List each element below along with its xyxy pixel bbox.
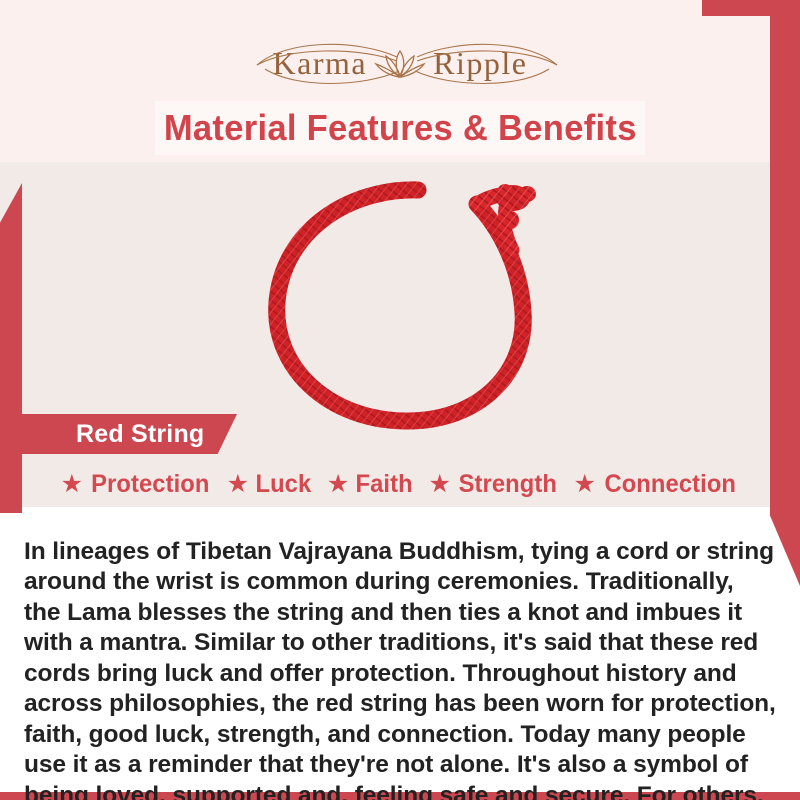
benefit-item: ★ Faith: [327, 470, 415, 499]
decor-red-left-bar: [0, 183, 22, 513]
star-icon: ★: [227, 472, 249, 497]
headline-band: Material Features & Benefits: [155, 101, 645, 155]
star-icon: ★: [428, 472, 450, 497]
benefit-label: Faith: [356, 470, 413, 499]
benefit-label: Protection: [91, 470, 209, 499]
benefit-label: Luck: [256, 470, 312, 499]
star-icon: ★: [61, 472, 83, 497]
brand-word-left: Karma: [273, 47, 368, 79]
infographic-poster: Karma Ripple Material Features & Benefit…: [0, 0, 800, 800]
material-name-label: Red String: [76, 420, 204, 449]
benefit-label: Connection: [604, 470, 736, 499]
benefit-item: ★ Luck: [227, 470, 313, 499]
red-braided-bracelet-illustration: [255, 168, 555, 443]
page-title: Material Features & Benefits: [164, 107, 637, 149]
description-paragraph: In lineages of Tibetan Vajrayana Buddhis…: [24, 537, 776, 800]
lotus-icon: [373, 43, 427, 83]
product-image: [255, 168, 555, 443]
star-icon: ★: [327, 472, 349, 497]
star-icon: ★: [573, 472, 595, 497]
brand-word-right: Ripple: [433, 47, 527, 79]
brand-logo: Karma Ripple: [0, 34, 800, 92]
benefit-item: ★ Connection: [573, 470, 739, 499]
benefit-item: ★ Strength: [428, 470, 559, 499]
material-name-banner: Red String: [22, 414, 237, 454]
benefits-row: ★ Protection ★ Luck ★ Faith ★ Strength ★…: [0, 466, 800, 502]
benefit-label: Strength: [458, 470, 556, 499]
benefit-item: ★ Protection: [61, 470, 213, 499]
